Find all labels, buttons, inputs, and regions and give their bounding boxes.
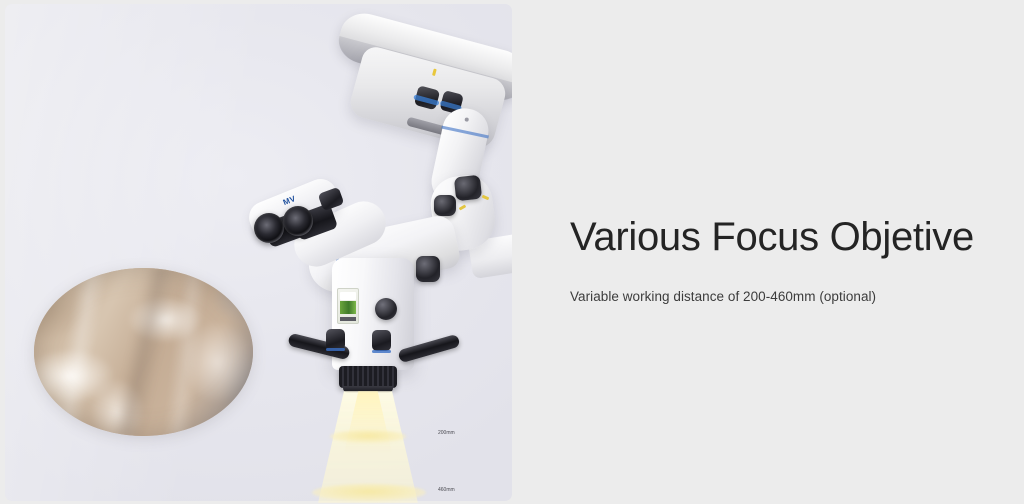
focal-plane-460mm — [312, 484, 426, 501]
product-slide: MV 200mm 460mm Various Focus Objetive Va… — [0, 0, 1024, 504]
focal-plane-200mm — [330, 430, 406, 443]
focus-knob-right-icon — [416, 256, 440, 282]
focal-distance-200mm: 200mm — [438, 430, 455, 436]
handle-ring-left — [326, 348, 345, 351]
handle-mount-left-icon — [326, 329, 345, 350]
magnified-tissue-view — [34, 268, 253, 436]
focus-knob-front-icon — [375, 298, 397, 320]
focal-distance-460mm: 460mm — [438, 487, 455, 493]
badge-bottom-bar — [340, 317, 356, 321]
badge-top-strip — [340, 292, 356, 300]
arm-lower-knob-1-icon — [454, 175, 482, 202]
arm-head-indicator — [432, 69, 437, 77]
objective-lens-housing — [339, 366, 397, 388]
arm-lower-knob-2-icon — [434, 195, 456, 216]
handle-mount-right-icon — [372, 330, 391, 351]
handle-ring-right — [372, 350, 391, 353]
arm-joint-ring — [441, 126, 489, 139]
arm-joint-pin — [464, 117, 469, 122]
eyepiece-lens-right — [283, 206, 313, 236]
badge-graphic — [340, 301, 356, 314]
page-subtitle: Variable working distance of 200-460mm (… — [570, 289, 876, 304]
device-label-badge — [337, 288, 359, 324]
tissue-vignette — [34, 268, 253, 436]
page-title: Various Focus Objetive — [570, 215, 974, 259]
eyepiece-lens-left — [254, 213, 284, 243]
